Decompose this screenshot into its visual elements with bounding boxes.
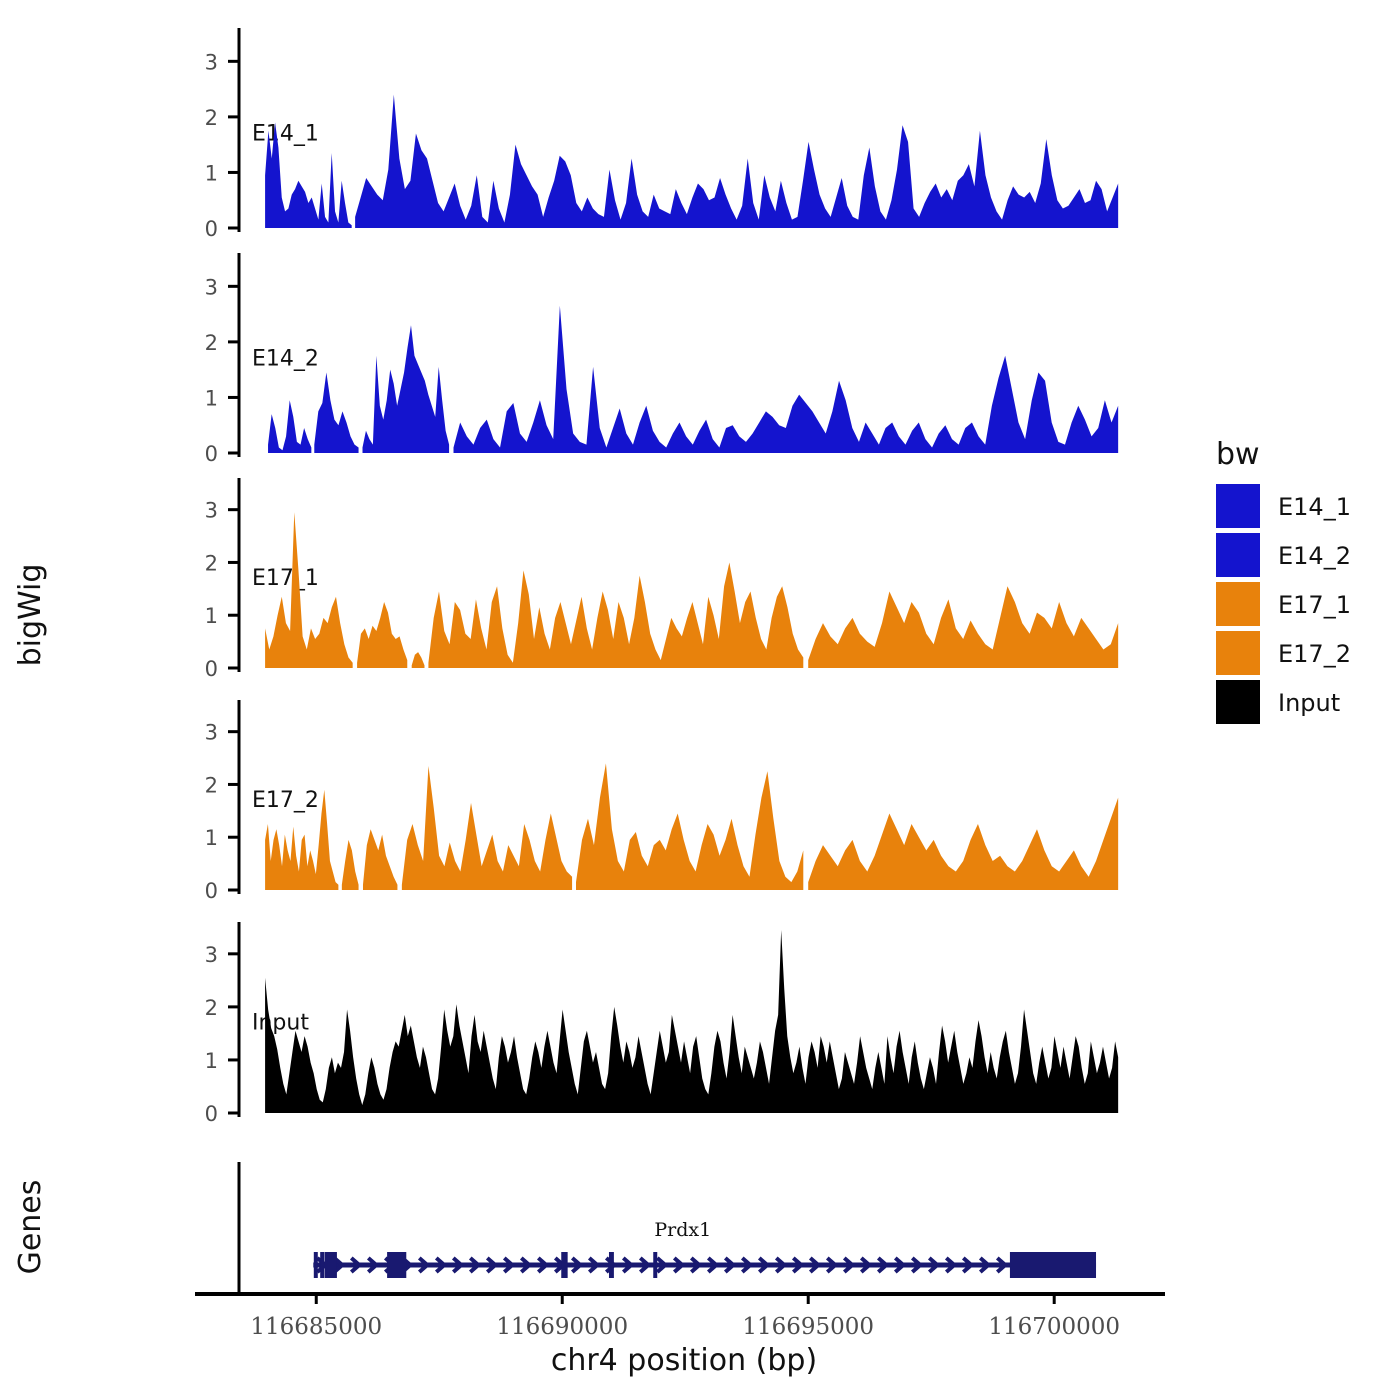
legend-swatch-E17_1[interactable] [1216,582,1260,626]
gene-label: Prdx1 [654,1219,711,1241]
panel-label-E14_2: E14_2 [252,346,319,371]
gene-exon-6 [653,1252,657,1278]
y-tick-label: 3 [205,721,218,745]
x-tick-label: 116700000 [988,1314,1120,1340]
legend-label: E17_1 [1278,591,1351,619]
y-tick-label: 3 [205,50,218,74]
y-tick-label: 1 [205,386,218,410]
gene-exon-0 [314,1252,318,1278]
y-tick-label: 2 [205,106,218,130]
gene-exon-1 [320,1252,324,1278]
x-tick-label: 116690000 [496,1314,628,1340]
x-tick-label: 116685000 [250,1314,382,1340]
y-tick-label: 0 [205,442,218,466]
y-tick-label: 0 [205,1102,218,1126]
legend-label: Input [1278,689,1340,717]
genes-axis-title: Genes [13,1180,48,1275]
y-tick-label: 3 [205,275,218,299]
y-tick-label: 2 [205,331,218,355]
panel-label-E14_1: E14_1 [252,121,319,146]
legend-label: E14_1 [1278,493,1351,521]
y-tick-label: 1 [205,1049,218,1073]
gene-exon-4 [561,1252,567,1278]
panel-label-Input: Input [252,1011,309,1036]
y-tick-label: 2 [205,996,218,1020]
legend-label: E14_2 [1278,542,1351,570]
figure-root: 0123E14_10123E14_20123E17_10123E17_20123… [0,0,1400,1400]
legend-swatch-E14_2[interactable] [1216,533,1260,577]
genome-browser-figure: 0123E14_10123E14_20123E17_10123E17_20123… [0,0,1400,1400]
gene-exon-7 [1010,1252,1096,1278]
y-tick-label: 1 [205,826,218,850]
y-tick-label: 0 [205,217,218,241]
y-tick-label: 3 [205,499,218,523]
x-tick-label: 116695000 [742,1314,874,1340]
legend-swatch-E17_2[interactable] [1216,631,1260,675]
x-axis-title: chr4 position (bp) [551,1343,817,1378]
gene-exon-5 [609,1252,614,1278]
panel-label-E17_1: E17_1 [252,566,319,591]
y-tick-label: 1 [205,161,218,185]
y-tick-label: 0 [205,657,218,681]
y-tick-label: 1 [205,604,218,628]
y-tick-label: 2 [205,773,218,797]
legend-label: E17_2 [1278,640,1351,668]
legend-swatch-Input[interactable] [1216,680,1260,724]
y-tick-label: 2 [205,551,218,575]
gene-exon-3 [387,1252,406,1278]
y-axis-title: bigWig [13,564,48,667]
legend-swatch-E14_1[interactable] [1216,484,1260,528]
panel-label-E17_2: E17_2 [252,788,319,813]
y-tick-label: 3 [205,943,218,967]
legend-title: bw [1216,437,1260,472]
y-tick-label: 0 [205,879,218,903]
gene-exon-2 [325,1252,337,1278]
